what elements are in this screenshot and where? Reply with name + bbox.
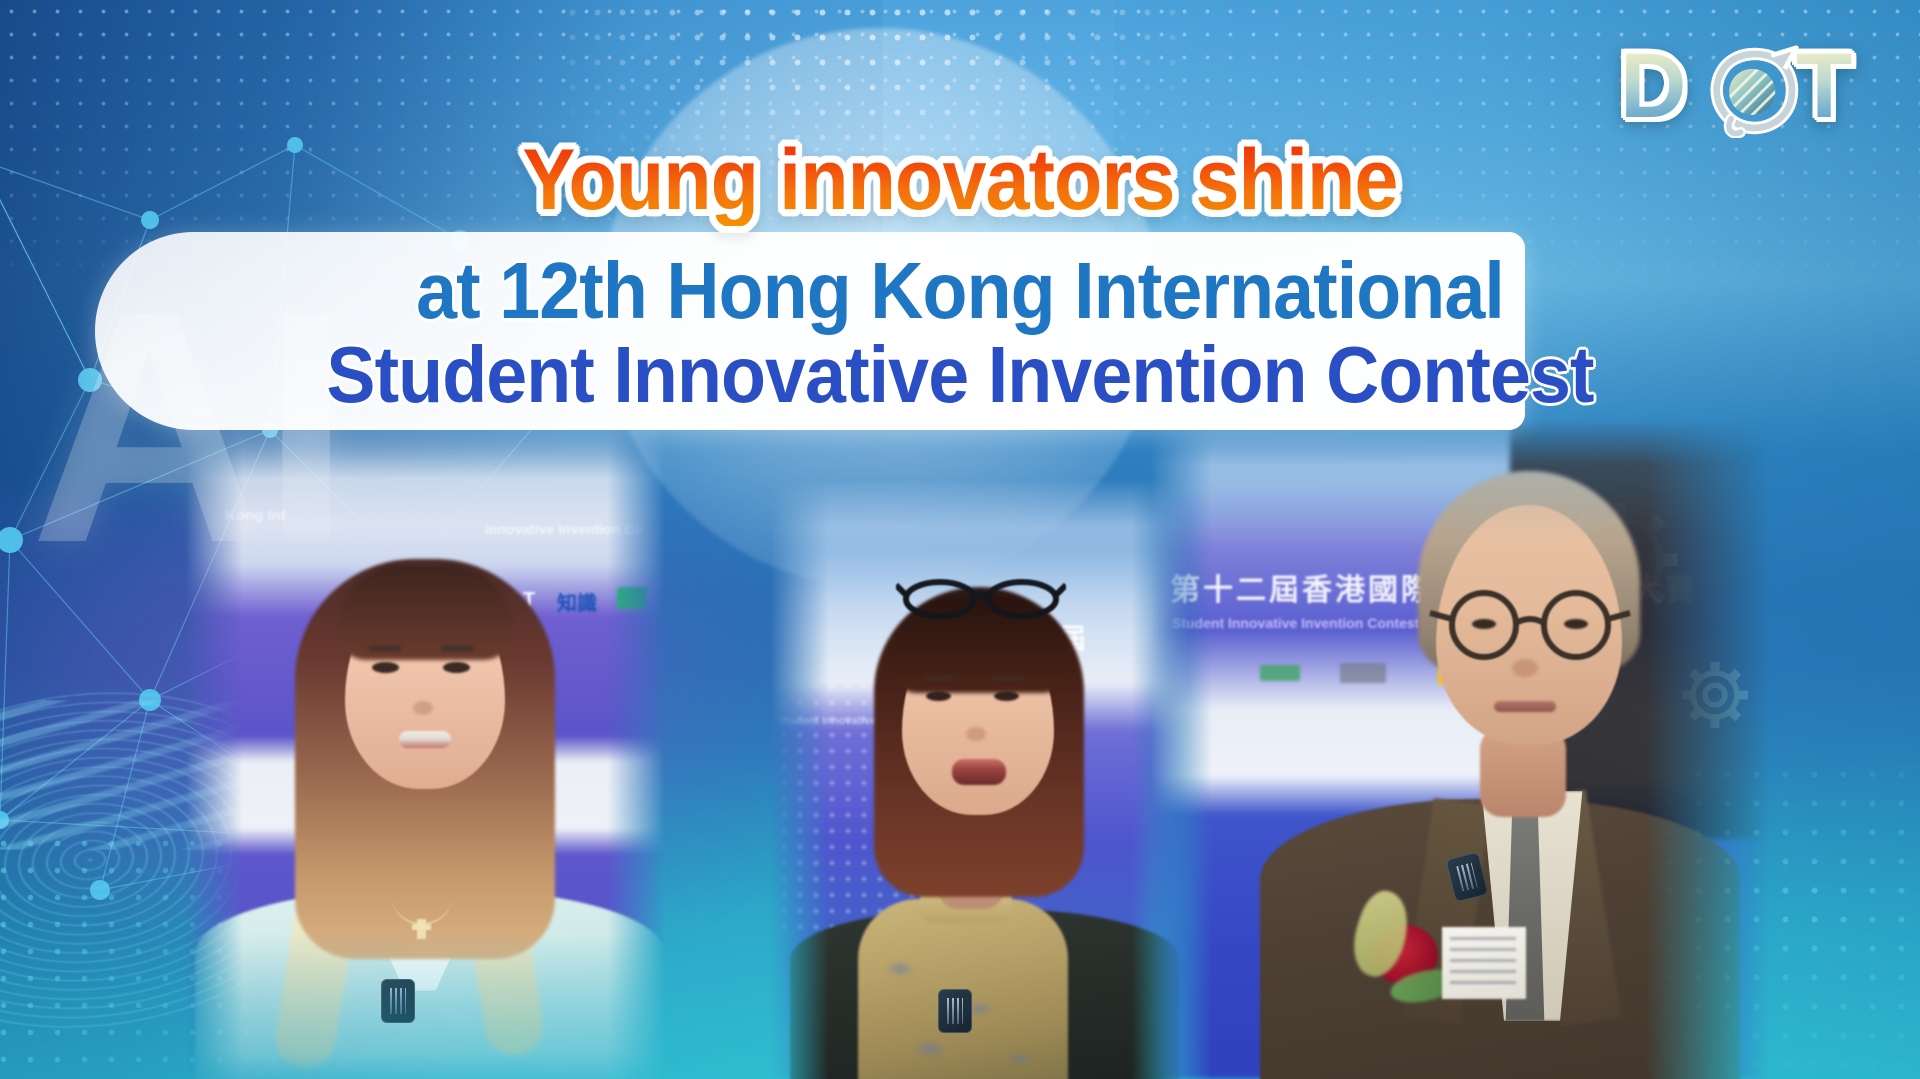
dot-logo-letter-t: T: [1796, 38, 1854, 134]
photo-right-man: 第十二屆香港國際學生創新發明大賽 Student Innovative Inve…: [1150, 419, 1770, 1079]
photo-left-fringe: [337, 565, 513, 660]
photo-left-nose: [413, 701, 433, 715]
photo-center-eye-right: [994, 691, 1019, 701]
photo-left-backdrop-logo-badge: [617, 587, 647, 609]
photo-right-name-card-lines: [1450, 937, 1516, 991]
photo-right-nose: [1512, 659, 1538, 677]
photo-center-nose: [966, 727, 986, 741]
photo-right-mouth: [1494, 701, 1556, 712]
photo-left-necklace-pendant-cross: [412, 924, 431, 930]
photo-left-backdrop-text-2: Innovative Invention Co: [485, 521, 643, 537]
dot-logo[interactable]: D T: [1620, 38, 1870, 134]
photo-left-brow-right: [441, 645, 474, 652]
dot-circle-swoosh-mark-icon: [1708, 42, 1804, 138]
thumbnail-canvas: AI: [0, 0, 1920, 1079]
photo-left-eye-right: [443, 662, 470, 673]
headline-panel-sheen: [95, 232, 1525, 430]
photo-center-woman: 十二屆 al Hong Kong Student Innovative Inve…: [770, 479, 1190, 1079]
dot-logo-letter-d: D: [1620, 38, 1688, 134]
photo-right-glasses: [1422, 587, 1638, 663]
photo-center-mouth: [952, 759, 1006, 785]
interviewee-photo-group: Kong Int Innovative Invention Co DOT 知識: [0, 419, 1920, 1079]
photo-left-mouth: [399, 731, 451, 748]
photo-left-backdrop-text-4: 知識: [557, 587, 597, 616]
photo-center-lapel-microphone: [938, 989, 972, 1033]
photo-center-glasses-on-head: [896, 575, 1066, 619]
photo-center-brow-right: [992, 675, 1024, 681]
photo-center-eye-left: [926, 691, 951, 701]
photo-right-eye-right: [1564, 619, 1588, 629]
photo-center-brow-left: [922, 675, 954, 681]
sponsor-logo-2: [1340, 663, 1386, 683]
photo-left-lapel-microphone: [381, 979, 415, 1023]
sponsor-logo-1: [1260, 665, 1300, 681]
photo-left-young-woman: Kong Int Innovative Invention Co DOT 知識: [185, 419, 665, 1079]
photo-right-eye-left: [1472, 619, 1496, 629]
photo-right-backdrop-text-2: Student Innovative Invention Contest 2: [1172, 615, 1431, 631]
photo-left-backdrop-text-1: Kong Int: [225, 507, 286, 524]
photo-left-brow-left: [368, 645, 401, 652]
photo-left-eye-left: [372, 662, 399, 673]
